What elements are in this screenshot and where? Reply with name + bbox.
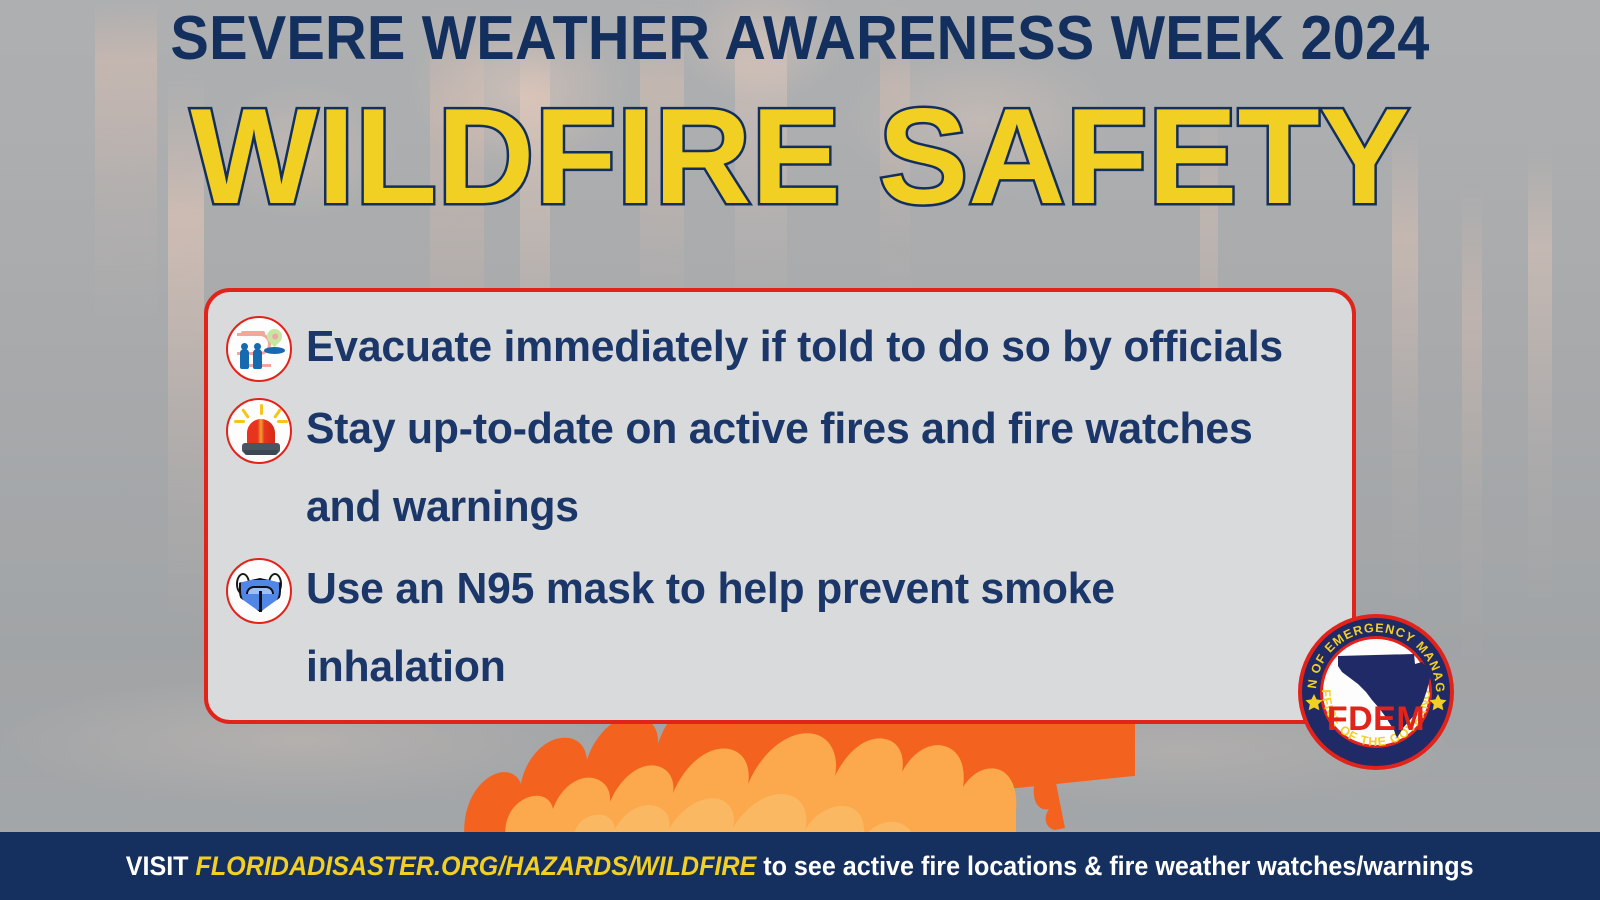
safety-tips-card: Evacuate immediately if told to do so by…: [204, 288, 1356, 724]
footer-prefix: VISIT: [126, 851, 196, 881]
safety-tip-text: Evacuate immediately if told to do so by…: [306, 308, 1283, 386]
footer-text: VISIT FLORIDADISASTER.ORG/HAZARDS/WILDFI…: [126, 851, 1474, 882]
safety-tip-text: Stay up-to-date on active fires and fire…: [306, 390, 1295, 546]
emergency-siren-icon: [226, 398, 292, 464]
footer-url[interactable]: FLORIDADISASTER.ORG/HAZARDS/WILDFIRE: [196, 851, 757, 881]
safety-tips-list: Evacuate immediately if told to do so by…: [208, 292, 1352, 720]
footer-suffix: to see active fire locations & fire weat…: [757, 851, 1474, 881]
list-item: Stay up-to-date on active fires and fire…: [226, 390, 1326, 546]
wildfire-safety-poster: SEVERE WEATHER AWARENESS WEEK 2024 WILDF…: [0, 0, 1600, 900]
logo-acronym: FDEM: [1327, 700, 1425, 738]
safety-tip-text: Use an N95 mask to help prevent smoke in…: [306, 550, 1295, 706]
fdem-logo: DIVISION OF EMERGENCY MANAGEMENT OFFICE …: [1296, 612, 1456, 772]
n95-mask-icon: [226, 558, 292, 624]
list-item: Evacuate immediately if told to do so by…: [226, 308, 1326, 386]
evacuation-route-icon: [226, 316, 292, 382]
eyebrow-title: SEVERE WEATHER AWARENESS WEEK 2024: [56, 8, 1544, 70]
list-item: Use an N95 mask to help prevent smoke in…: [226, 550, 1326, 706]
page-title: WILDFIRE SAFETY: [8, 88, 1592, 224]
footer-bar: VISIT FLORIDADISASTER.ORG/HAZARDS/WILDFI…: [0, 832, 1600, 900]
